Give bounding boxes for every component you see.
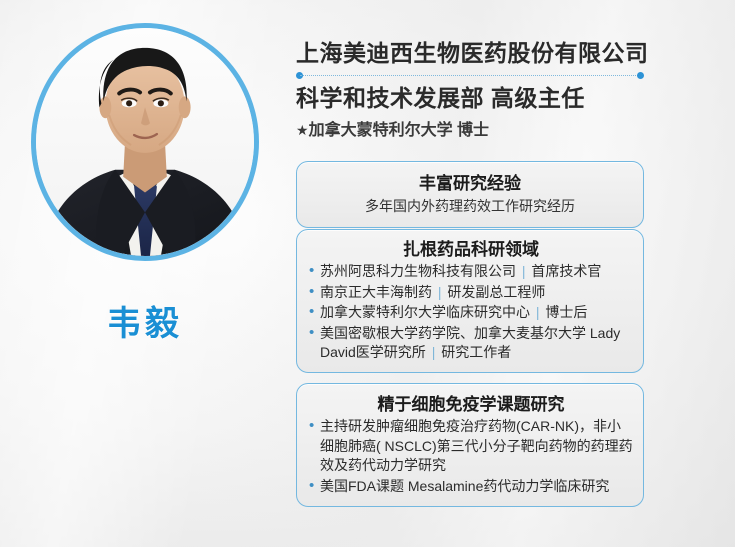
- degree-text: 加拿大蒙特利尔大学 博士: [309, 122, 489, 139]
- list-item: 美国密歇根大学药学院、加拿大麦基尔大学 Lady David医学研究所 | 研究…: [309, 324, 633, 363]
- card-expertise: 精于细胞免疫学课题研究 主持研发肿瘤细胞免疫治疗药物(CAR-NK)，非小细胞肺…: [296, 383, 644, 507]
- avatar-ring: [31, 23, 259, 261]
- list-item: 主持研发肿瘤细胞免疫治疗药物(CAR-NK)，非小细胞肺癌( NSCLC)第三代…: [309, 417, 633, 476]
- item-role: 首席技术官: [531, 263, 601, 279]
- card-field-title: 扎根药品科研领域: [309, 238, 633, 262]
- list-item: 苏州阿思科力生物科技有限公司 | 首席技术官: [309, 262, 633, 282]
- company-name: 上海美迪西生物医药股份有限公司: [296, 38, 644, 68]
- divider-line: [300, 75, 640, 76]
- star-icon: ★: [296, 122, 309, 138]
- item-separator: |: [520, 263, 528, 279]
- item-org: 加拿大蒙特利尔大学临床研究中心: [320, 304, 530, 320]
- headline-block: 上海美迪西生物医药股份有限公司 科学和技术发展部 高级主任 ★加拿大蒙特利尔大学…: [296, 38, 644, 142]
- card-experience-subtitle: 多年国内外药理药效工作研究经历: [309, 196, 631, 217]
- card-experience: 丰富研究经验 多年国内外药理药效工作研究经历: [296, 161, 644, 228]
- card-experience-title: 丰富研究经验: [309, 172, 631, 196]
- divider-dot-right: [637, 72, 644, 79]
- item-role: 博士后: [545, 304, 587, 320]
- item-text: 主持研发肿瘤细胞免疫治疗药物(CAR-NK)，非小细胞肺癌( NSCLC)第三代…: [320, 418, 633, 473]
- portrait-photo: [36, 28, 254, 256]
- list-item: 美国FDA课题 Mesalamine药代动力学临床研究: [309, 477, 633, 497]
- item-org: 苏州阿思科力生物科技有限公司: [320, 263, 516, 279]
- item-separator: |: [534, 304, 542, 320]
- avatar: [31, 23, 259, 261]
- list-item: 南京正大丰海制药 | 研发副总工程师: [309, 283, 633, 303]
- card-expertise-list: 主持研发肿瘤细胞免疫治疗药物(CAR-NK)，非小细胞肺癌( NSCLC)第三代…: [309, 417, 633, 496]
- item-role: 研究工作者: [441, 344, 511, 360]
- item-role: 研发副总工程师: [447, 284, 545, 300]
- item-org: 南京正大丰海制药: [320, 284, 432, 300]
- list-item: 加拿大蒙特利尔大学临床研究中心 | 博士后: [309, 303, 633, 323]
- card-field: 扎根药品科研领域 苏州阿思科力生物科技有限公司 | 首席技术官 南京正大丰海制药…: [296, 229, 644, 373]
- department-title: 科学和技术发展部 高级主任: [296, 82, 644, 114]
- dotted-divider: [296, 71, 644, 80]
- slide-root: 韦毅 上海美迪西生物医药股份有限公司 科学和技术发展部 高级主任 ★加拿大蒙特利…: [0, 0, 735, 547]
- item-separator: |: [430, 344, 438, 360]
- item-text: 美国FDA课题 Mesalamine药代动力学临床研究: [320, 478, 609, 494]
- item-separator: |: [436, 284, 444, 300]
- card-expertise-title: 精于细胞免疫学课题研究: [309, 393, 633, 417]
- right-column: 上海美迪西生物医药股份有限公司 科学和技术发展部 高级主任 ★加拿大蒙特利尔大学…: [296, 0, 644, 547]
- card-field-list: 苏州阿思科力生物科技有限公司 | 首席技术官 南京正大丰海制药 | 研发副总工程…: [309, 262, 633, 363]
- person-name: 韦毅: [31, 296, 259, 345]
- degree-line: ★加拿大蒙特利尔大学 博士: [296, 119, 644, 142]
